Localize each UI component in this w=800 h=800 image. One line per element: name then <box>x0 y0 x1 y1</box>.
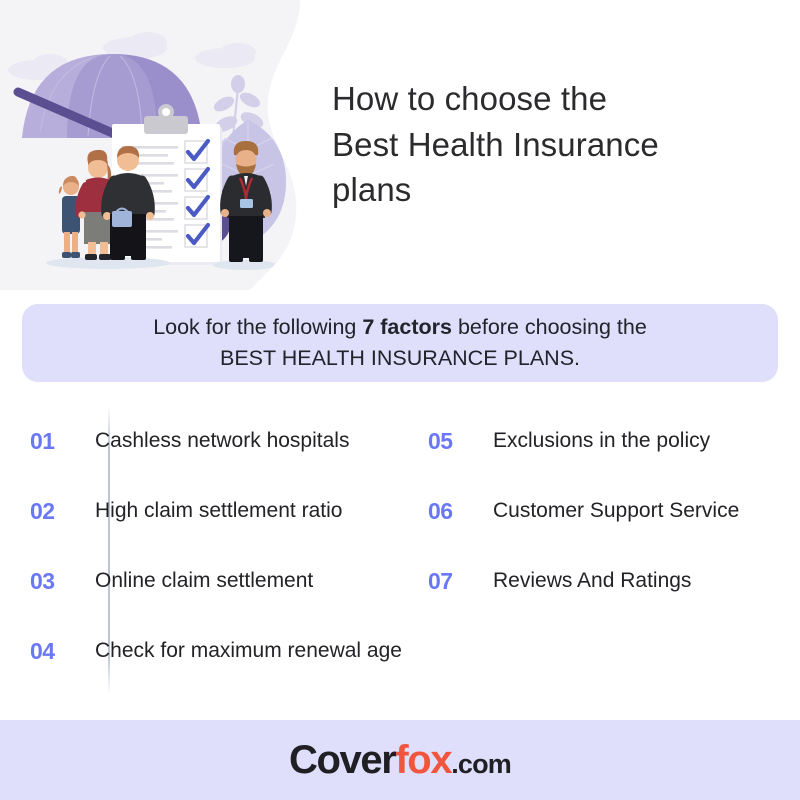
list-item[interactable]: 03 Online claim settlement <box>30 546 430 616</box>
checkbox-item <box>185 225 208 247</box>
list-item-number: 02 <box>30 498 78 525</box>
coverfox-logo[interactable]: Coverfox.com <box>289 738 511 783</box>
list-item[interactable]: 07 Reviews And Ratings <box>428 546 788 616</box>
infographic-page: How to choose the Best Health Insurance … <box>0 0 800 800</box>
list-item[interactable]: 05 Exclusions in the policy <box>428 406 788 476</box>
banner-line2-text: BEST HEALTH INSURANCE PLANS. <box>220 346 580 370</box>
list-item-number: 05 <box>428 428 476 455</box>
logo-com-text: .com <box>451 749 511 780</box>
list-item-label: Exclusions in the policy <box>476 429 710 453</box>
list-item-label: Reviews And Ratings <box>476 569 691 593</box>
hero-section: How to choose the Best Health Insurance … <box>0 0 800 290</box>
page-title: How to choose the Best Health Insurance … <box>332 76 752 213</box>
list-item[interactable]: 01 Cashless network hospitals <box>30 406 430 476</box>
page-title-line-3: plans <box>332 167 752 213</box>
checkbox-item <box>185 141 208 163</box>
list-item-number: 07 <box>428 568 476 595</box>
list-item[interactable]: 04 Check for maximum renewal age <box>30 616 430 686</box>
factors-list-section: 01 Cashless network hospitals 02 High cl… <box>0 400 800 710</box>
banner-tail-text: before choosing the <box>452 315 647 339</box>
list-item-number: 06 <box>428 498 476 525</box>
list-item-label: Online claim settlement <box>78 569 313 593</box>
list-item-label: High claim settlement ratio <box>78 499 342 523</box>
checkbox-item <box>185 197 208 219</box>
subtitle-banner: Look for the following 7 factors before … <box>22 304 778 382</box>
bag-icon <box>112 209 132 228</box>
list-item-label: Check for maximum renewal age <box>78 639 402 663</box>
list-item-number: 03 <box>30 568 78 595</box>
subtitle-banner-text: Look for the following 7 factors before … <box>133 312 667 374</box>
banner-highlight-text: 7 factors <box>362 315 452 339</box>
id-badge <box>240 199 253 208</box>
family-insurance-checklist-illustration <box>0 0 330 290</box>
logo-cover-text: Cover <box>289 738 395 783</box>
footer-bar: Coverfox.com <box>0 720 800 800</box>
list-item-label: Cashless network hospitals <box>78 429 349 453</box>
page-title-line-2: Best Health Insurance <box>332 122 752 168</box>
list-item[interactable]: 06 Customer Support Service <box>428 476 788 546</box>
list-item-number: 01 <box>30 428 78 455</box>
list-item-number: 04 <box>30 638 78 665</box>
banner-lead-text: Look for the following <box>153 315 362 339</box>
list-item-label: Customer Support Service <box>476 499 739 523</box>
logo-fox-text: fox <box>395 738 451 783</box>
page-title-line-1: How to choose the <box>332 76 752 122</box>
checkbox-item <box>185 169 208 191</box>
list-item[interactable]: 02 High claim settlement ratio <box>30 476 430 546</box>
